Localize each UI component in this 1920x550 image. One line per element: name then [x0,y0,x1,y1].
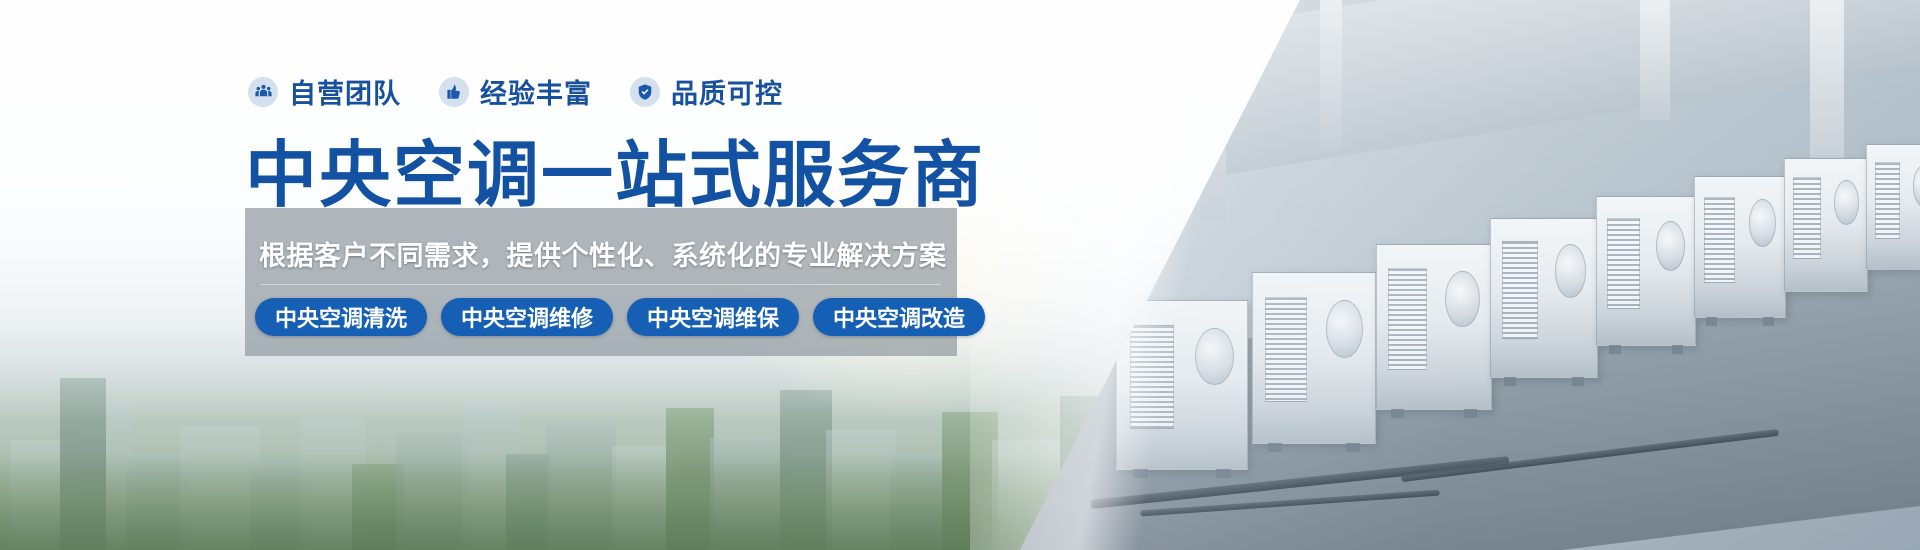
hero-banner: 自营团队 经验丰富 品质可控 [0,0,1920,550]
service-pill-repair[interactable]: 中央空调维修 [441,298,613,336]
subtitle-text: 根据客户不同需求，提供个性化、系统化的专业解决方案 [259,234,943,273]
info-panel: 根据客户不同需求，提供个性化、系统化的专业解决方案 中央空调清洗 中央空调维修 … [245,208,957,356]
page-title: 中央空调一站式服务商 [245,116,985,221]
service-pill-maintenance[interactable]: 中央空调维保 [627,298,799,336]
feature-label: 自营团队 [289,72,401,111]
feature-item-experience: 经验丰富 [439,72,592,111]
service-pill-group: 中央空调清洗 中央空调维修 中央空调维保 中央空调改造 [255,298,985,336]
thumbs-up-icon [439,77,469,107]
shield-check-icon [630,77,660,107]
feature-label: 经验丰富 [480,72,592,111]
panel-divider [261,284,941,285]
service-pill-renovation[interactable]: 中央空调改造 [813,298,985,336]
service-pill-cleaning[interactable]: 中央空调清洗 [255,298,427,336]
feature-item-quality: 品质可控 [630,72,783,111]
feature-item-team: 自营团队 [248,72,401,111]
banner-content: 自营团队 经验丰富 品质可控 [0,0,1920,550]
feature-label: 品质可控 [671,72,783,111]
team-icon [248,77,278,107]
feature-badges: 自营团队 经验丰富 品质可控 [248,72,783,111]
